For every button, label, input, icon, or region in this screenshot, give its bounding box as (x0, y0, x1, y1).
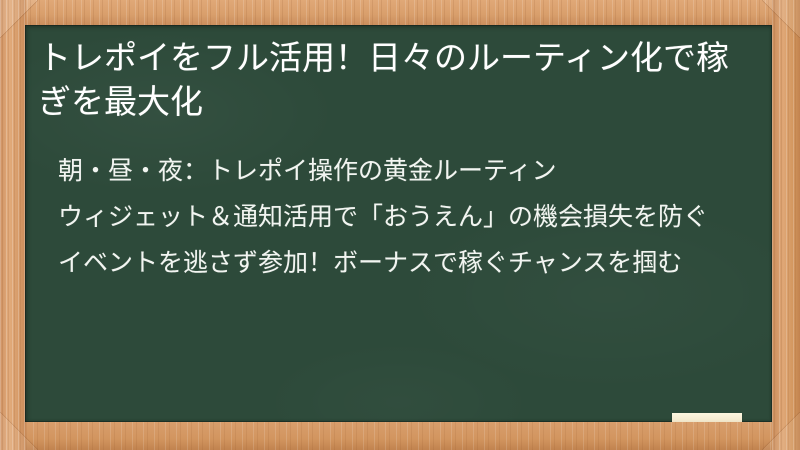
board-text-block: トレポイをフル活用！日々のルーティン化で稼ぎを最大化 朝・昼・夜：トレポイ操作の… (25, 25, 772, 281)
board-list-item: 朝・昼・夜：トレポイ操作の黄金ルーティン (58, 153, 750, 189)
frame-rail-top (0, 0, 800, 26)
chalkboard-surface: トレポイをフル活用！日々のルーティン化で稼ぎを最大化 朝・昼・夜：トレポイ操作の… (25, 25, 772, 422)
chalk-stick-icon (672, 413, 742, 422)
frame-rail-right (772, 0, 800, 450)
frame-rail-bottom (0, 422, 800, 450)
frame-rail-left (0, 0, 26, 450)
blackboard-graphic: トレポイをフル活用！日々のルーティン化で稼ぎを最大化 朝・昼・夜：トレポイ操作の… (0, 0, 800, 450)
board-list-item: イベントを逃さず参加！ボーナスで稼ぐチャンスを掴む (58, 245, 750, 281)
board-bullet-list: 朝・昼・夜：トレポイ操作の黄金ルーティン ウィジェット＆通知活用で「おうえん」の… (38, 153, 750, 281)
board-title: トレポイをフル活用！日々のルーティン化で稼ぎを最大化 (38, 36, 750, 124)
board-list-item: ウィジェット＆通知活用で「おうえん」の機会損失を防ぐ (58, 199, 750, 235)
